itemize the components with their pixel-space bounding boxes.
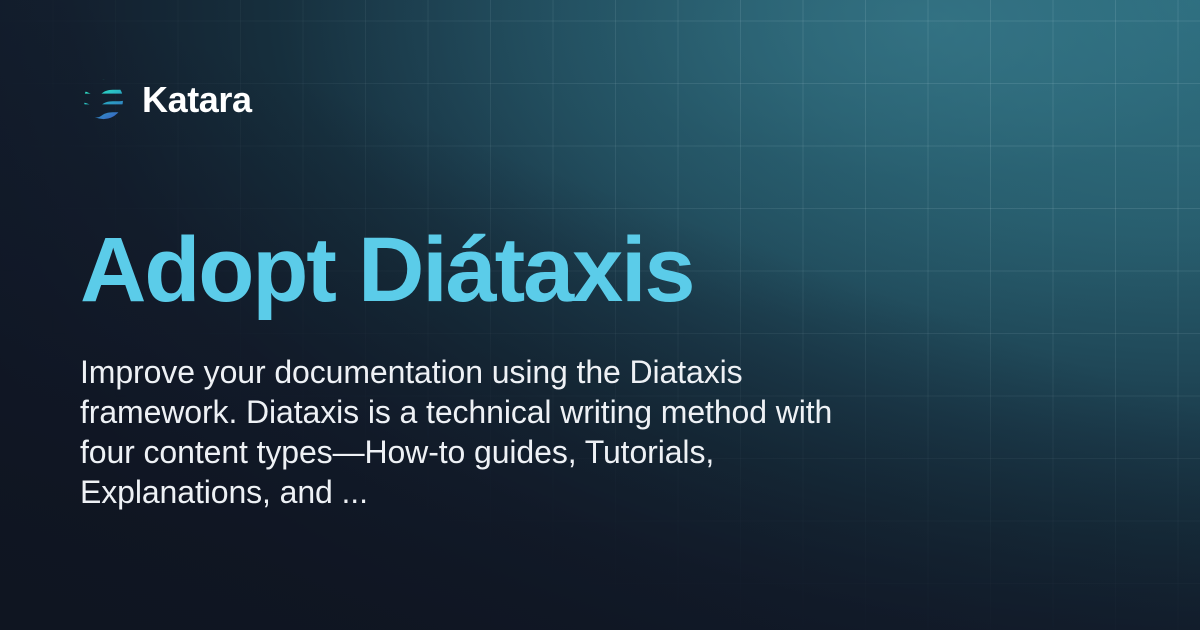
brand-name: Katara [142,82,252,118]
brand-lockup: Katara [80,76,252,123]
og-social-card: Katara Adopt Diátaxis Improve your docum… [0,0,1200,630]
wave-circle-logo-icon [80,76,127,123]
card-content: Katara Adopt Diátaxis Improve your docum… [0,0,1200,630]
page-title: Adopt Diátaxis [80,222,693,319]
page-description: Improve your documentation using the Dia… [80,352,840,512]
